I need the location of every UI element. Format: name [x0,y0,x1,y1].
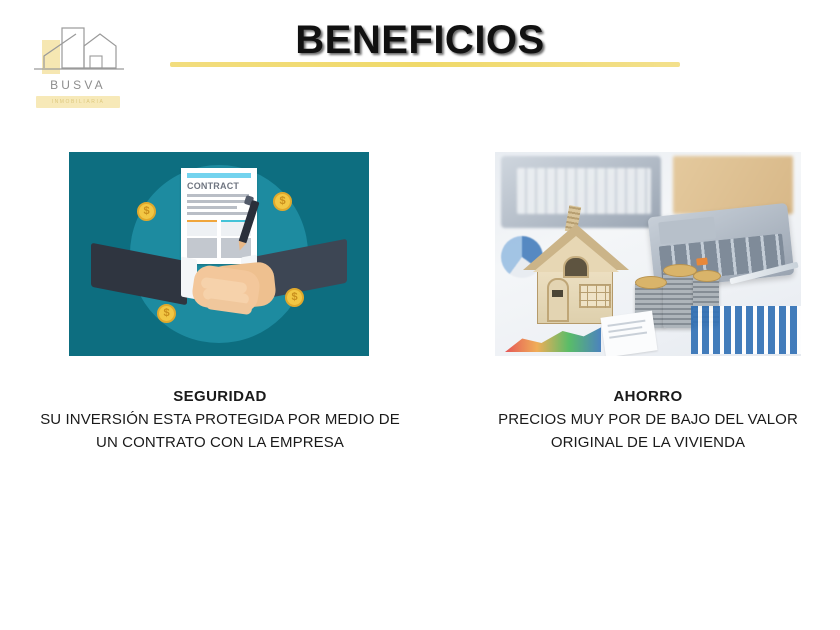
title-underline-rule [170,62,680,67]
caption-ahorro: AHORRO PRECIOS MUY POR DE BAJO DEL VALOR… [462,388,834,454]
dollar-coin-icon: $ [157,304,176,323]
house-window-grid [579,284,611,308]
page-title: BENEFICIOS [0,18,840,63]
coin-top-face [693,270,721,282]
logo-tagline: INMOBILIARIA [36,96,120,108]
house-savings-photo [495,152,801,356]
calculator-accent-key [696,258,708,266]
benefit-body: PRECIOS MUY POR DE BAJO DEL VALOR ORIGIN… [462,408,834,454]
contract-title-text: CONTRACT [187,181,239,191]
benefit-heading: AHORRO [462,388,834,405]
caption-seguridad: SEGURIDAD SU INVERSIÓN ESTA PROTEGIDA PO… [34,388,406,454]
house-attic-window [563,256,589,278]
dollar-coin-icon: $ [137,202,156,221]
contract-line [187,200,249,203]
benefit-card-ahorro [462,152,834,356]
house-door-panel [552,290,563,297]
logo-tagline-plate: INMOBILIARIA [36,96,120,108]
contract-block [187,238,217,258]
model-house-object [523,206,629,324]
handshake-contract-image: CONTRACT $ $ $ $ [69,152,369,356]
coin-top-face [635,276,667,289]
paper-document [600,311,657,356]
dollar-coin-icon: $ [273,192,292,211]
coin-top-face [663,264,697,277]
bar-chart-graphic [691,306,801,354]
contract-line [187,194,249,197]
contract-line [187,212,249,215]
calculator-screen [658,217,716,245]
house-door [547,278,569,322]
benefit-card-seguridad: CONTRACT $ $ $ $ [34,152,406,356]
contract-line [187,206,237,209]
logo-name: BUSVA [22,78,134,92]
contract-form-box [187,220,217,236]
benefit-heading: SEGURIDAD [34,388,406,405]
benefit-body: SU INVERSIÓN ESTA PROTEGIDA POR MEDIO DE… [34,408,406,454]
dollar-coin-icon: $ [285,288,304,307]
contract-header-bar [187,173,251,178]
